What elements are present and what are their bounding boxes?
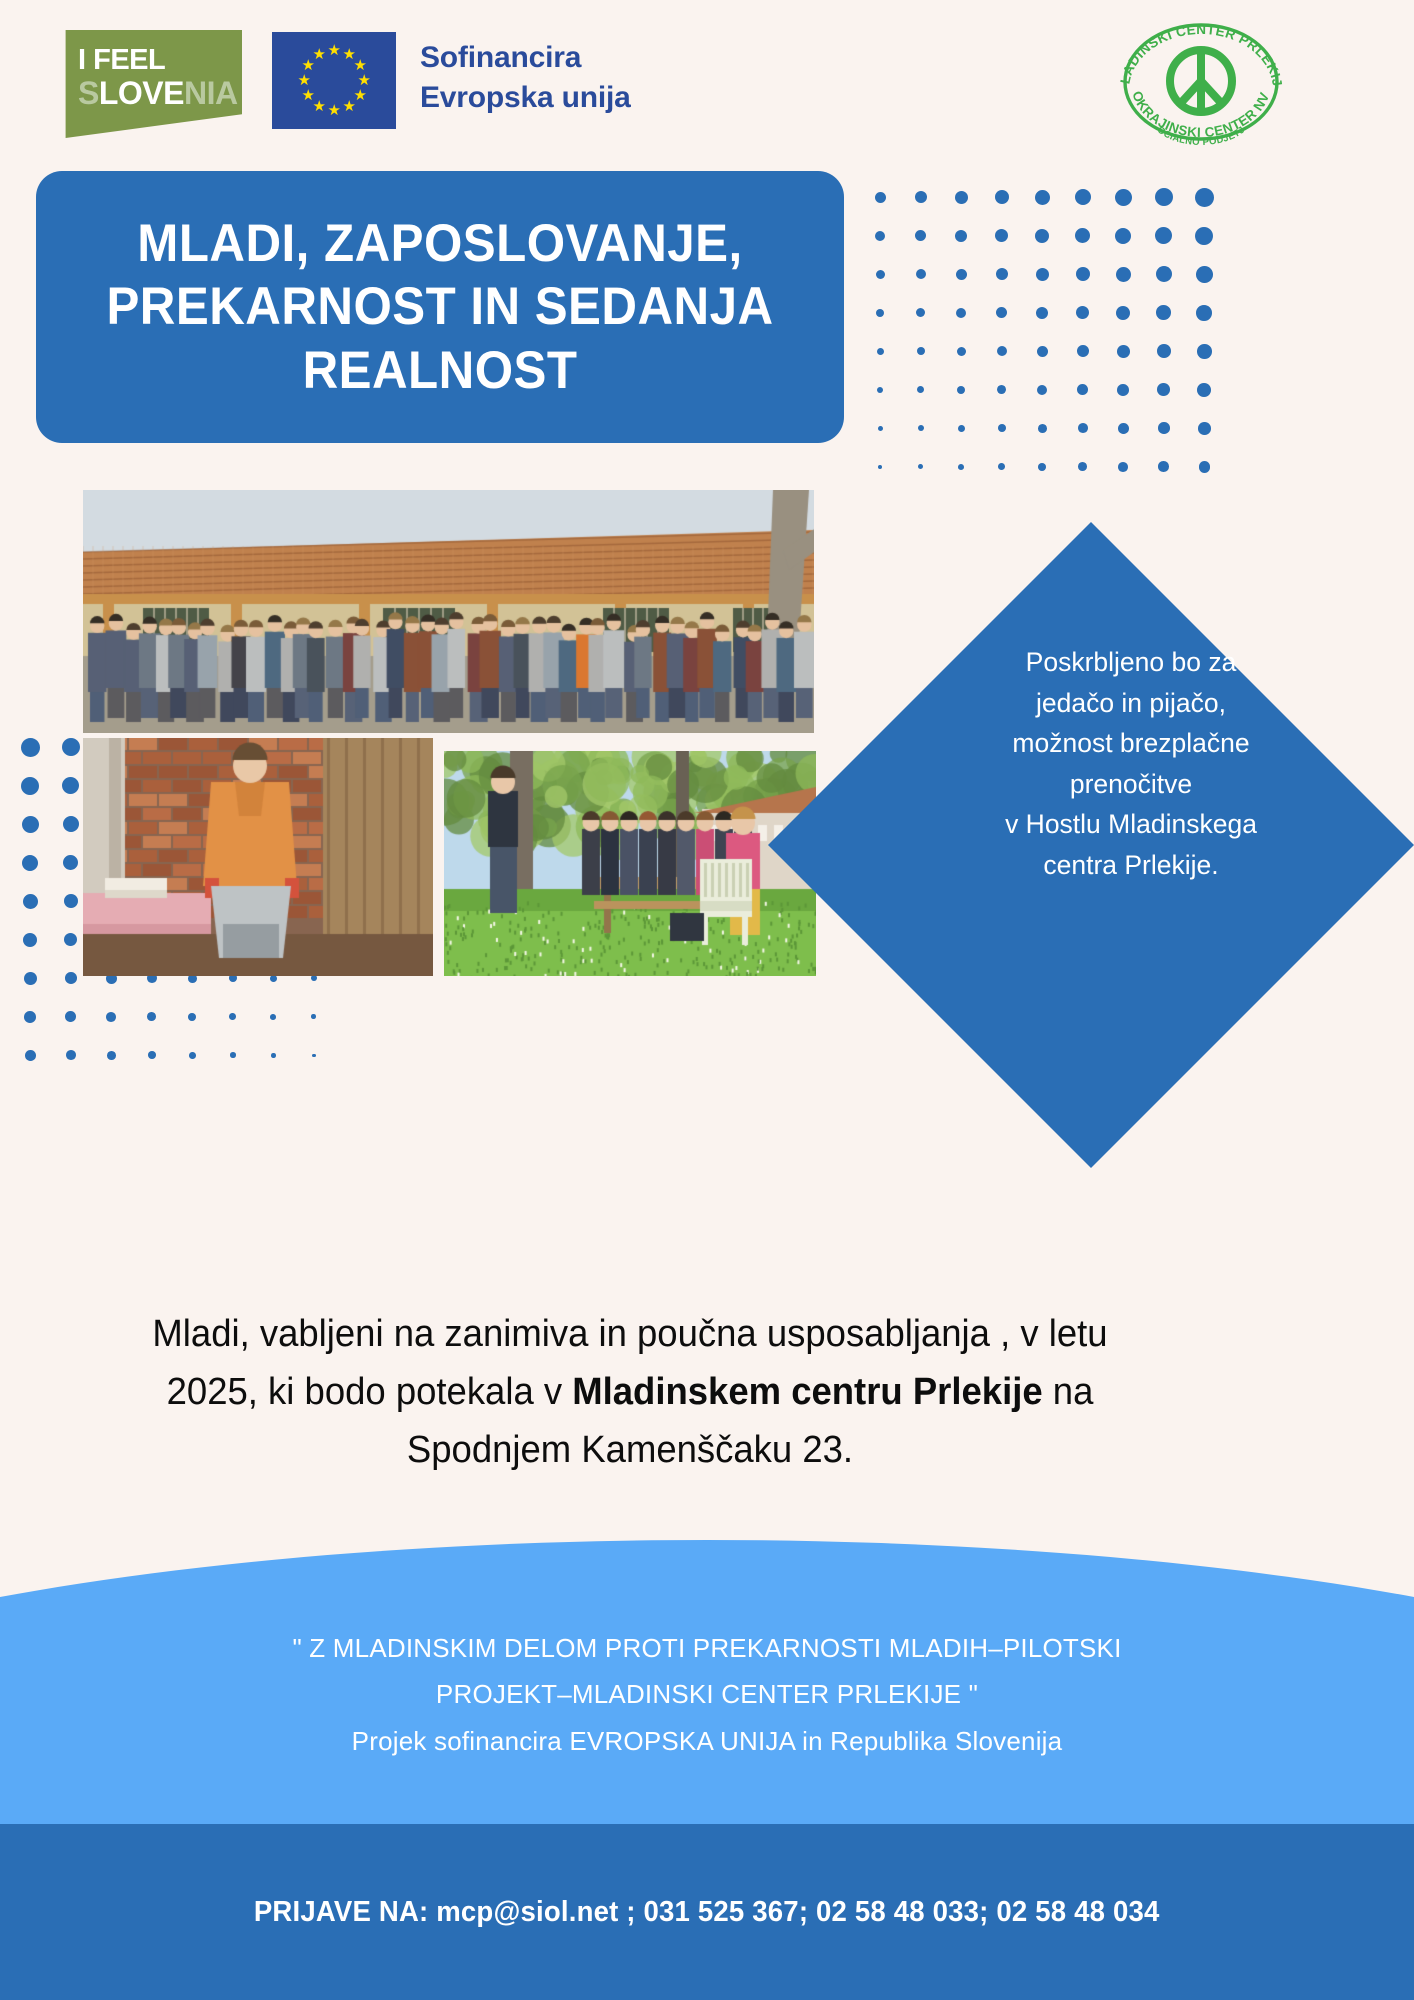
decorative-dot [1157, 344, 1171, 358]
decorative-dot [23, 933, 37, 947]
decorative-dot [955, 191, 968, 204]
eu-star-icon: ★ [298, 74, 311, 87]
eu-star-icon: ★ [353, 59, 366, 72]
info-diamond-line-2: jedačo in pijačo, [858, 683, 1404, 724]
decorative-dot [1075, 189, 1091, 205]
eu-funding-line1: Sofinancira [420, 38, 631, 78]
decorative-dot [188, 1013, 196, 1021]
decorative-dot [311, 1014, 316, 1019]
decorative-dot [1037, 385, 1047, 395]
decorative-dot [1195, 188, 1214, 207]
decorative-dot-grid-right [860, 178, 1280, 478]
peace-symbol-icon [1170, 50, 1232, 112]
eu-star-icon: ★ [328, 104, 341, 117]
decorative-dot [63, 855, 78, 870]
decorative-dot [997, 346, 1007, 356]
decorative-dot [996, 268, 1008, 280]
photo-person-renovating-brick-wall [83, 738, 433, 976]
decorative-dot [1077, 345, 1089, 357]
decorative-dot [229, 1013, 236, 1020]
decorative-dot [1158, 422, 1170, 434]
decorative-dot [1038, 463, 1046, 471]
slovenia-logo-s: S [78, 75, 99, 111]
info-diamond: Poskrbljeno bo za jedačo in pijačo, možn… [768, 522, 1414, 1168]
info-diamond-line-1: Poskrbljeno bo za [858, 642, 1404, 683]
decorative-dot [995, 229, 1008, 242]
slovenia-logo-love: LOVE [99, 75, 184, 111]
eu-star-icon: ★ [328, 44, 341, 57]
decorative-dot [1156, 305, 1171, 320]
decorative-dot [1115, 189, 1132, 206]
decorative-dot [916, 308, 925, 317]
project-statement-line3: Projek sofinancira EVROPSKA UNIJA in Rep… [0, 1718, 1414, 1764]
decorative-dot [915, 230, 926, 241]
decorative-dot [63, 816, 79, 832]
decorative-dot [998, 424, 1006, 432]
eu-star-icon: ★ [302, 89, 315, 102]
decorative-dot [1076, 306, 1089, 319]
slovenia-logo-line2: SLOVENIA [78, 77, 238, 109]
decorative-dot [1196, 305, 1212, 321]
decorative-dot [1158, 461, 1169, 472]
decorative-dot [957, 386, 965, 394]
eu-funding-text: Sofinancira Evropska unija [420, 38, 631, 117]
slovenia-logo-line1: I FEEL [78, 46, 165, 75]
decorative-dot [21, 738, 41, 758]
decorative-dot [312, 1054, 316, 1058]
contact-footer: PRIJAVE NA: mcp@siol.net ; 031 525 367; … [0, 1824, 1414, 2000]
info-diamond-line-6: centra Prlekije. [858, 845, 1404, 886]
decorative-dot [956, 269, 967, 280]
decorative-dot [877, 348, 884, 355]
decorative-dot [65, 1011, 76, 1022]
decorative-dot [66, 1050, 76, 1060]
decorative-dot [1198, 422, 1211, 435]
info-diamond-line-5: v Hostlu Mladinskega [858, 804, 1404, 845]
decorative-dot [1036, 307, 1048, 319]
decorative-dot [958, 425, 965, 432]
decorative-dot [1075, 228, 1090, 243]
title-banner: MLADI, ZAPOSLOVANJE, PREKARNOST IN SEDAN… [36, 171, 844, 443]
photo-large-group-in-front-of-house [83, 490, 814, 733]
decorative-dot [875, 192, 887, 204]
main-paragraph-line3-bold: Prlekije [913, 1371, 1043, 1413]
decorative-dot [917, 347, 925, 355]
decorative-dot [148, 1051, 156, 1059]
decorative-dot [958, 464, 964, 470]
slovenia-logo-nia: NIA [184, 75, 238, 111]
decorative-dot [106, 1012, 116, 1022]
decorative-dot [23, 894, 38, 909]
decorative-dot [1077, 384, 1088, 395]
decorative-dot [1157, 383, 1170, 396]
info-diamond-text: Poskrbljeno bo za jedačo in pijačo, možn… [858, 642, 1404, 885]
decorative-dot [1197, 383, 1211, 397]
slovenia-brand-logo: I FEEL SLOVENIA [62, 30, 242, 138]
decorative-dot [311, 975, 317, 981]
project-statement: " Z MLADINSKIM DELOM PROTI PREKARNOSTI M… [0, 1625, 1414, 1764]
mladinski-center-prlekije-logo: MLADINSKI CENTER PRLEKIJE POKRAJINSKI CE… [1112, 18, 1290, 150]
decorative-dot [1155, 188, 1173, 206]
eu-flag-icon: ★★★★★★★★★★★★ [272, 32, 396, 129]
eu-funding-line2: Evropska unija [420, 78, 631, 118]
decorative-dot [1196, 266, 1213, 283]
decorative-dot [1037, 346, 1048, 357]
decorative-dot [917, 386, 924, 393]
project-statement-line1: " Z MLADINSKIM DELOM PROTI PREKARNOSTI M… [0, 1625, 1414, 1671]
decorative-dot [147, 1012, 156, 1021]
page-title: MLADI, ZAPOSLOVANJE, PREKARNOST IN SEDAN… [88, 212, 791, 403]
decorative-dot [1078, 462, 1087, 471]
decorative-dot [271, 1053, 276, 1058]
decorative-dot [64, 894, 78, 908]
decorative-dot [1038, 424, 1047, 433]
decorative-dot [957, 347, 966, 356]
decorative-dot [956, 308, 966, 318]
mcp-logo-svg: MLADINSKI CENTER PRLEKIJE POKRAJINSKI CE… [1112, 18, 1290, 150]
decorative-dot [21, 777, 39, 795]
decorative-dot [1116, 267, 1131, 282]
decorative-dot [24, 1011, 36, 1023]
decorative-dot [1118, 423, 1129, 434]
decorative-dot [64, 933, 77, 946]
main-paragraph: Mladi, vabljeni na zanimiva in poučna us… [116, 1306, 1143, 1479]
decorative-dot [65, 972, 77, 984]
decorative-dot [1118, 462, 1128, 472]
poster-root: I FEEL SLOVENIA ★★★★★★★★★★★★ Sofinancira… [0, 0, 1414, 2000]
decorative-dot [995, 190, 1009, 204]
decorative-dot [878, 465, 882, 469]
decorative-dot [270, 1014, 276, 1020]
decorative-dot [1156, 266, 1172, 282]
photo-outdoor-workshop-under-tree [444, 751, 816, 976]
decorative-dot [62, 738, 80, 756]
decorative-dot [877, 387, 883, 393]
main-paragraph-line1: Mladi, vabljeni na zanimiva in poučna us… [152, 1313, 1038, 1355]
info-diamond-line-4: prenočitve [858, 764, 1404, 805]
decorative-dot [998, 463, 1005, 470]
decorative-dot [22, 816, 39, 833]
decorative-dot [1195, 227, 1213, 245]
decorative-dot [1197, 344, 1212, 359]
decorative-dot [876, 270, 885, 279]
decorative-dot [918, 464, 923, 469]
decorative-dot [876, 309, 884, 317]
decorative-dot [107, 1051, 116, 1060]
decorative-dot [230, 1052, 236, 1058]
decorative-dot [1036, 268, 1049, 281]
decorative-dot [1116, 306, 1130, 320]
decorative-dot [916, 269, 926, 279]
decorative-dot [1078, 423, 1088, 433]
project-statement-line2: PROJEKT–MLADINSKI CENTER PRLEKIJE " [0, 1671, 1414, 1717]
info-diamond-line-3: možnost brezplačne [858, 723, 1404, 764]
decorative-dot [996, 307, 1007, 318]
decorative-dot [997, 385, 1006, 394]
decorative-dot [875, 231, 885, 241]
decorative-dot [878, 426, 883, 431]
decorative-dot [1115, 228, 1131, 244]
eu-star-icon: ★ [313, 48, 326, 61]
decorative-dot [1117, 384, 1129, 396]
decorative-dot [1076, 267, 1090, 281]
decorative-dot [25, 1050, 36, 1061]
eu-star-icon: ★ [358, 74, 371, 87]
decorative-dot [915, 191, 927, 203]
decorative-dot [189, 1052, 196, 1059]
decorative-dot [1035, 229, 1049, 243]
decorative-dot [1035, 190, 1050, 205]
decorative-dot [955, 230, 967, 242]
decorative-dot [22, 855, 38, 871]
contact-footer-text: PRIJAVE NA: mcp@siol.net ; 031 525 367; … [254, 1896, 1160, 1929]
decorative-dot [1199, 461, 1211, 473]
main-paragraph-line2-bold: Mladinskem centru [572, 1371, 902, 1413]
decorative-dot [1155, 227, 1172, 244]
decorative-dot [1117, 345, 1130, 358]
decorative-dot [62, 777, 79, 794]
eu-star-icon: ★ [343, 100, 356, 113]
decorative-dot [918, 425, 924, 431]
decorative-dot [24, 972, 37, 985]
